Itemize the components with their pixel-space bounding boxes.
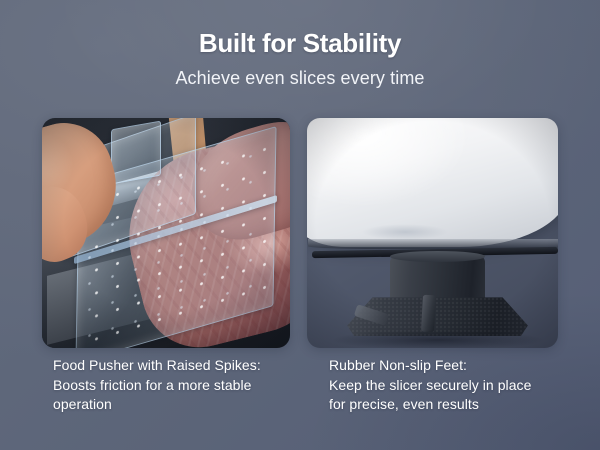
caption-line: Keep the slicer securely in place bbox=[329, 376, 574, 396]
caption-line: Boosts friction for a more stable bbox=[53, 376, 298, 396]
feature-image-rubber-feet bbox=[307, 118, 558, 348]
promo-banner: Built for Stability Achieve even slices … bbox=[0, 0, 600, 450]
header-block: Built for Stability Achieve even slices … bbox=[0, 28, 600, 89]
caption-line: for precise, even results bbox=[329, 395, 574, 415]
caption-line: Food Pusher with Raised Spikes: bbox=[53, 356, 298, 376]
caption-food-pusher: Food Pusher with Raised Spikes: Boosts f… bbox=[53, 356, 298, 415]
caption-line: Rubber Non-slip Feet: bbox=[329, 356, 574, 376]
feature-image-food-pusher bbox=[42, 118, 290, 348]
photo-vignette bbox=[307, 118, 558, 348]
rubber-foot-photo bbox=[307, 118, 558, 348]
page-subtitle: Achieve even slices every time bbox=[0, 67, 600, 89]
caption-line: operation bbox=[53, 395, 298, 415]
page-title: Built for Stability bbox=[0, 28, 600, 58]
food-pusher-photo bbox=[42, 118, 290, 348]
caption-rubber-feet: Rubber Non-slip Feet: Keep the slicer se… bbox=[329, 356, 574, 415]
photo-vignette bbox=[42, 118, 290, 348]
